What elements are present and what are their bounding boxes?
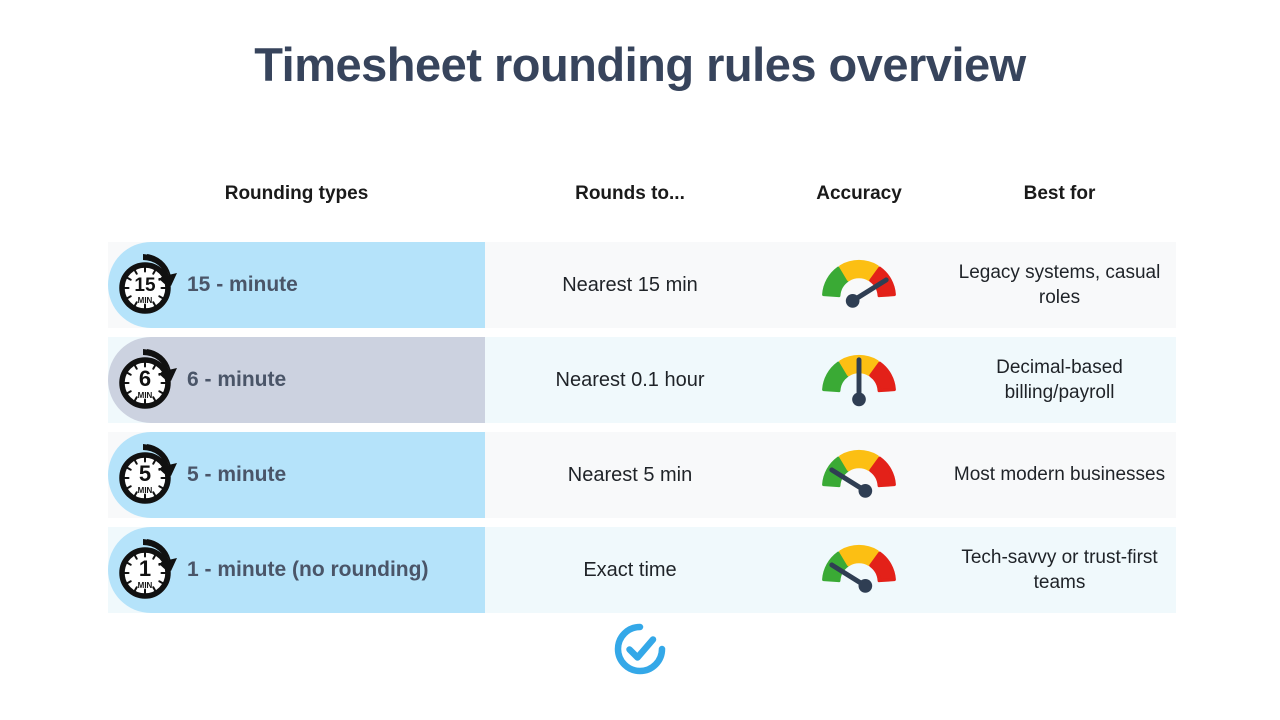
cell-rounds-to: Nearest 0.1 hour xyxy=(485,337,775,423)
cell-rounding-type: 1 MIN 1 - minute (no rounding) xyxy=(108,527,485,613)
table-row: 5 MIN 5 - minute Nearest 5 min Most mode… xyxy=(108,432,1176,518)
check-circle-logo xyxy=(613,622,667,676)
timer-clock-icon: 5 MIN xyxy=(117,444,179,506)
rounding-rules-table: Rounding types Rounds to... Accuracy Bes… xyxy=(108,170,1176,622)
cell-rounds-to: Nearest 5 min xyxy=(485,432,775,518)
cell-accuracy xyxy=(775,337,943,423)
cell-rounding-type: 15 MIN 15 - minute xyxy=(108,242,485,328)
column-header-rounds-to: Rounds to... xyxy=(485,183,775,205)
rounding-type-pill: 5 MIN 5 - minute xyxy=(108,432,485,518)
cell-rounding-type: 6 MIN 6 - minute xyxy=(108,337,485,423)
table-row: 15 MIN 15 - minute Nearest 15 min Legacy… xyxy=(108,242,1176,328)
cell-accuracy xyxy=(775,527,943,613)
page-title: Timesheet rounding rules overview xyxy=(0,38,1280,92)
table-row: 1 MIN 1 - minute (no rounding) Exact tim… xyxy=(108,527,1176,613)
svg-text:5: 5 xyxy=(139,461,151,486)
rounding-type-pill: 6 MIN 6 - minute xyxy=(108,337,485,423)
rounding-type-label: 6 - minute xyxy=(187,368,286,392)
svg-text:MIN: MIN xyxy=(138,391,153,400)
svg-text:MIN: MIN xyxy=(138,296,153,305)
gauge-icon xyxy=(816,252,902,319)
svg-text:MIN: MIN xyxy=(138,581,153,590)
cell-best-for: Legacy systems, casual roles xyxy=(943,242,1176,328)
rounding-type-pill: 15 MIN 15 - minute xyxy=(108,242,485,328)
svg-text:1: 1 xyxy=(139,556,151,581)
column-header-accuracy: Accuracy xyxy=(775,183,943,205)
cell-best-for: Decimal-based billing/payroll xyxy=(943,337,1176,423)
cell-accuracy xyxy=(775,432,943,518)
cell-rounding-type: 5 MIN 5 - minute xyxy=(108,432,485,518)
timer-clock-icon: 1 MIN xyxy=(117,539,179,601)
cell-best-for: Most modern businesses xyxy=(943,432,1176,518)
rounding-type-label: 1 - minute (no rounding) xyxy=(187,558,428,582)
column-header-best-for: Best for xyxy=(943,183,1176,205)
cell-rounds-to: Nearest 15 min xyxy=(485,242,775,328)
timer-clock-icon: 6 MIN xyxy=(117,349,179,411)
rounding-type-label: 15 - minute xyxy=(187,273,298,297)
gauge-icon xyxy=(816,537,902,604)
cell-accuracy xyxy=(775,242,943,328)
rounding-type-label: 5 - minute xyxy=(187,463,286,487)
cell-rounds-to: Exact time xyxy=(485,527,775,613)
svg-text:6: 6 xyxy=(139,366,151,391)
table-body: 15 MIN 15 - minute Nearest 15 min Legacy… xyxy=(108,242,1176,613)
svg-text:15: 15 xyxy=(134,275,156,296)
timer-clock-icon: 15 MIN xyxy=(117,254,179,316)
table-header-row: Rounding types Rounds to... Accuracy Bes… xyxy=(108,170,1176,218)
column-header-rounding-types: Rounding types xyxy=(108,183,485,205)
table-row: 6 MIN 6 - minute Nearest 0.1 hour Decima… xyxy=(108,337,1176,423)
svg-text:MIN: MIN xyxy=(138,486,153,495)
rounding-type-pill: 1 MIN 1 - minute (no rounding) xyxy=(108,527,485,613)
gauge-icon xyxy=(816,442,902,509)
gauge-icon xyxy=(816,347,902,414)
cell-best-for: Tech-savvy or trust-first teams xyxy=(943,527,1176,613)
